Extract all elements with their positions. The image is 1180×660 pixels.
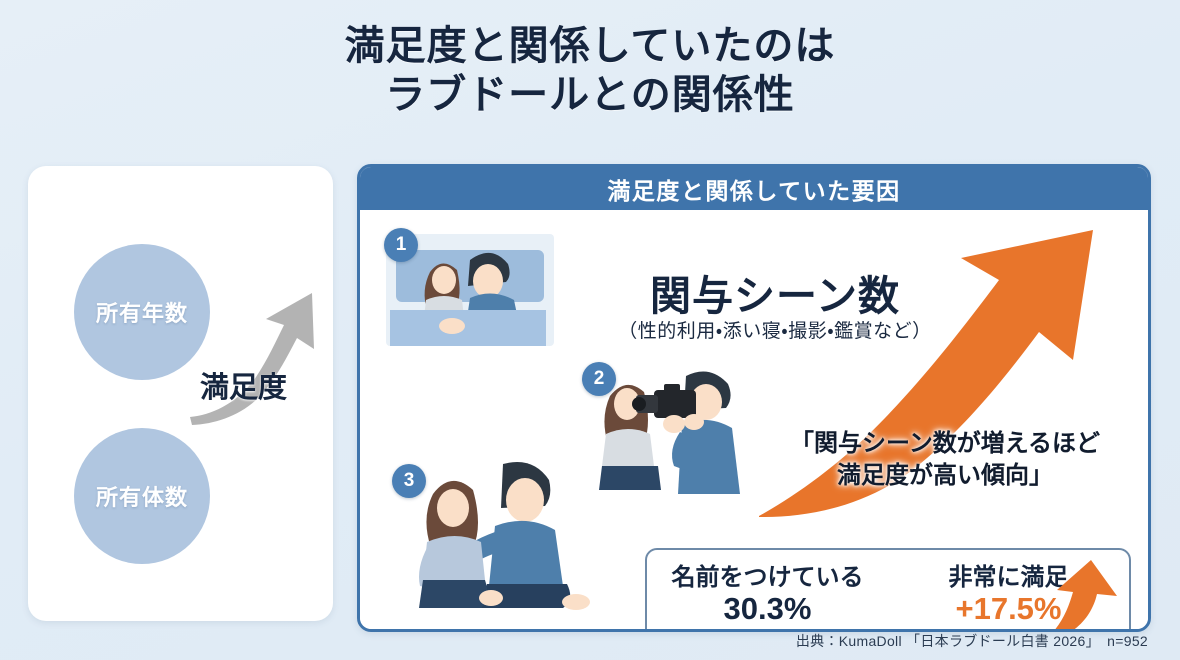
- stat-label: 名前をつけている: [647, 565, 888, 592]
- title-line-1: 満足度と関係していたのは: [0, 22, 1180, 71]
- page-title: 満足度と関係していたのは ラブドールとの関係性: [0, 22, 1180, 120]
- factors-card: 所有年数 所有体数 満足度: [28, 166, 333, 621]
- stats-box: 名前をつけている 30.3% 非常に満足 +17.5%: [645, 548, 1131, 632]
- stat-value: 30.3%: [647, 592, 888, 627]
- satisfaction-label: 満足度: [200, 364, 350, 406]
- stat-named-doll: 名前をつけている 30.3%: [647, 565, 888, 627]
- scene-headline: 関与シーン数: [565, 262, 985, 322]
- quote-line-1: 「関与シーン数が増えるほど: [750, 428, 1140, 460]
- quote-line-2: 満足度が高い傾向」: [750, 460, 1140, 492]
- scene-subtitle: （性的利用・添い寝・撮影・鑑賞など）: [550, 316, 1000, 343]
- badge-3: 3: [392, 464, 426, 498]
- couple-sitting-illustration: [395, 460, 600, 625]
- panel-body: 関与シーン数 （性的利用・添い寝・撮影・鑑賞など） 「関与シーン数が増えるほど …: [360, 210, 1148, 629]
- trend-quote: 「関与シーン数が増えるほど 満足度が高い傾向」: [750, 428, 1140, 491]
- title-line-2: ラブドールとの関係性: [0, 71, 1180, 120]
- source-note: 出典：KumaDoll 「日本ラブドール白書 2026」 n=952: [796, 631, 1148, 651]
- badge-1: 1: [384, 228, 418, 262]
- badge-2: 2: [582, 362, 616, 396]
- panel-header: 満足度と関係していた要因: [360, 167, 1148, 210]
- bubble-ownership-count: 所有体数: [74, 428, 210, 564]
- factors-detail-panel: 満足度と関係していた要因 関与シーン数 （性的利用・添い寝・撮影・鑑賞など） 「…: [357, 164, 1151, 632]
- bubble-label: 所有体数: [96, 480, 188, 512]
- orange-curved-up-arrow-icon: [1047, 558, 1123, 632]
- bubble-label: 所有年数: [96, 296, 188, 328]
